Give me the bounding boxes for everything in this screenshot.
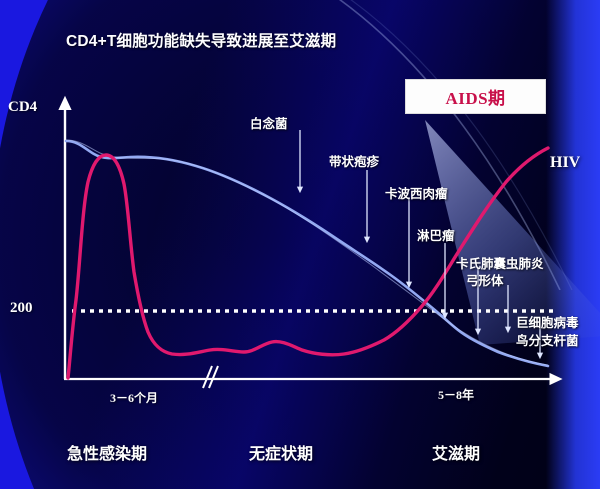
annotation-mac: 鸟分支杆菌 (516, 330, 579, 349)
phase-aids: 艾滋期 (432, 440, 480, 464)
duration-latent: 5－8年 (438, 386, 474, 403)
y-axis-tick-200: 200 (10, 300, 33, 317)
annotation-daizhuangpaozhen: 带状疱疹 (329, 151, 379, 170)
annotation-baindianjun: 白念菌 (250, 113, 288, 132)
hiv-series-label: HIV (550, 154, 580, 172)
annotation-gongxingti: 弓形体 (466, 270, 504, 289)
annotation-kaboxirouliu: 卡波西肉瘤 (385, 183, 448, 202)
aids-stage-badge-label: AIDS期 (445, 84, 505, 109)
aids-stage-badge: AIDS期 (405, 79, 546, 114)
background-gradient-overlay (0, 0, 600, 489)
page-title: CD4+T细胞功能缺失导致进展至艾滋期 (66, 29, 336, 51)
annotation-cmv: 巨细胞病毒 (516, 312, 579, 331)
chart-canvas: CD4+T细胞功能缺失导致进展至艾滋期 AIDS期 CD4 200 HIV 白念… (0, 0, 600, 489)
y-axis-label: CD4 (8, 99, 37, 116)
phase-asymptomatic: 无症状期 (249, 440, 313, 464)
annotation-linbaliu: 淋巴瘤 (417, 225, 455, 244)
duration-acute: 3－6个月 (110, 389, 158, 406)
background-right-edge-glow (546, 0, 600, 489)
phase-acute-infection: 急性感染期 (67, 440, 147, 464)
